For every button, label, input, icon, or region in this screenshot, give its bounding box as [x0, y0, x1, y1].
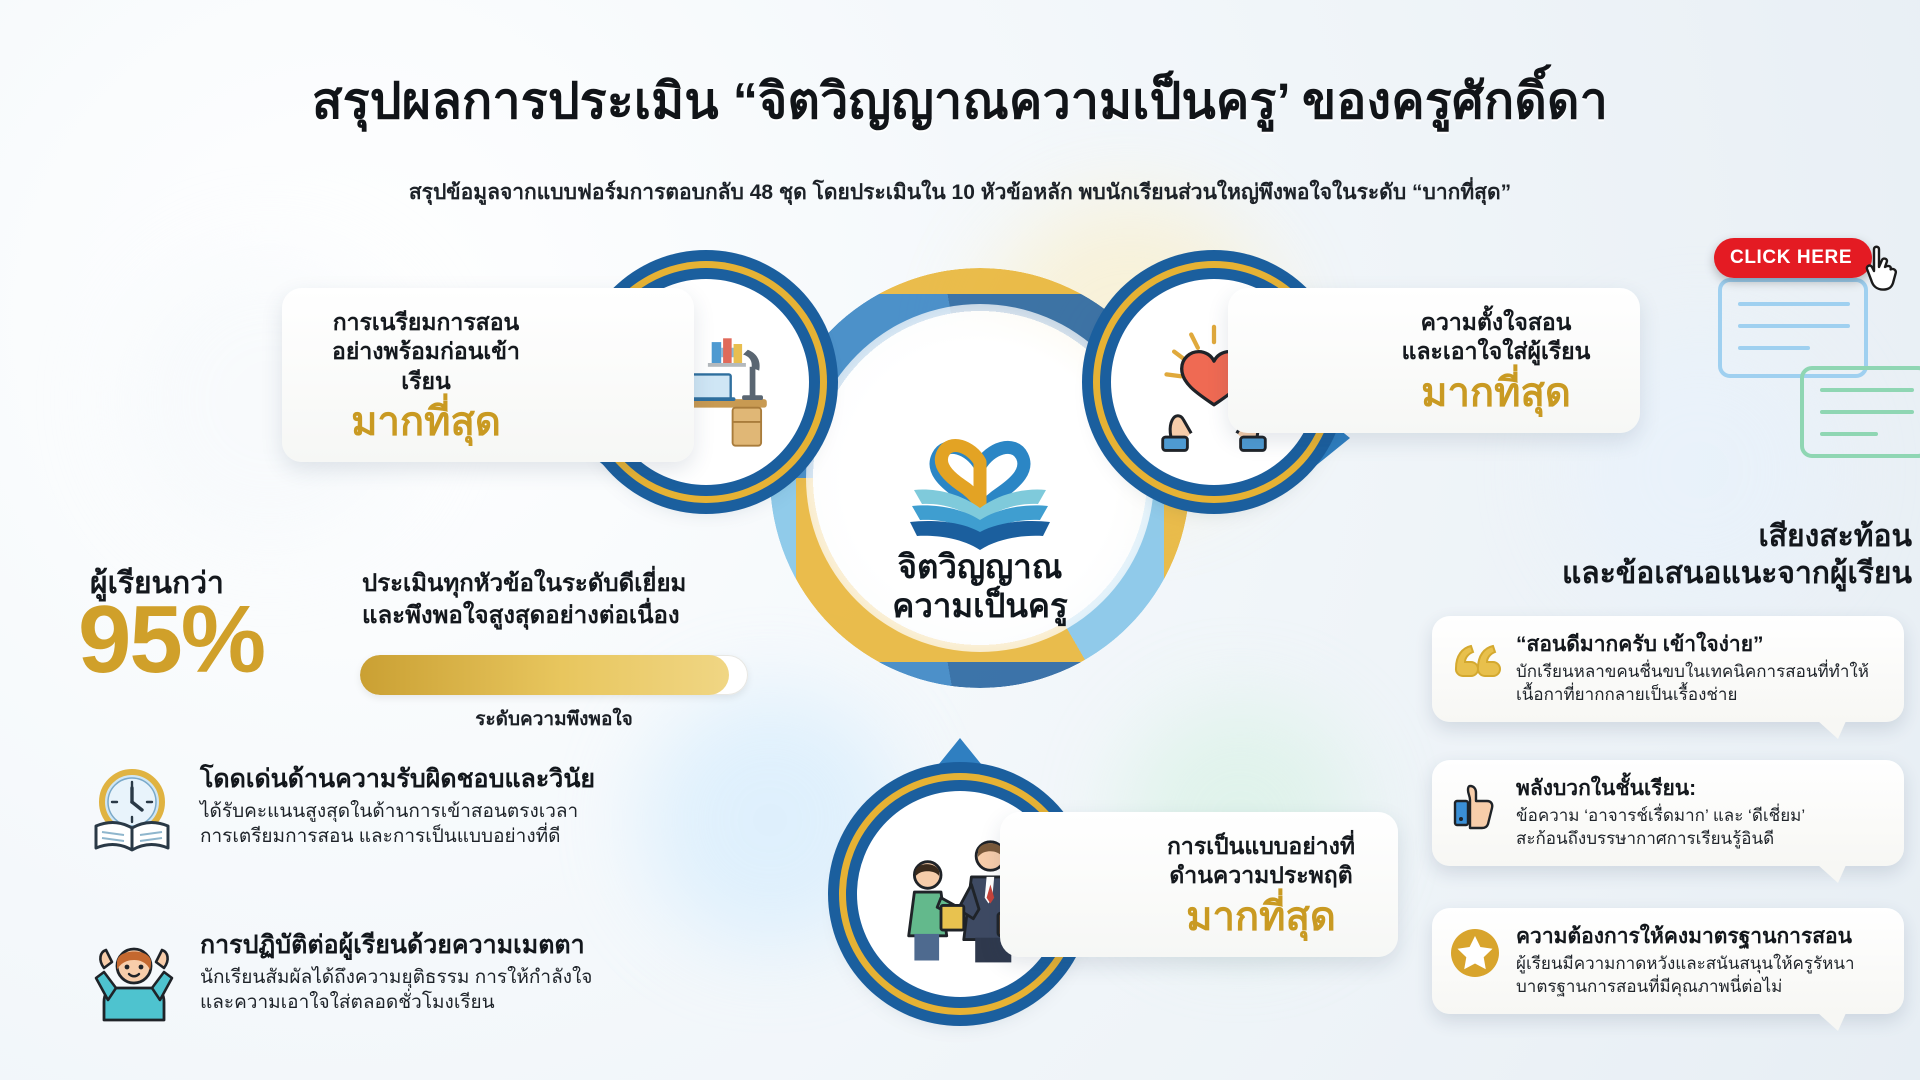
- clock-book-icon: [86, 762, 182, 858]
- feature-kindness-text-line-2: และความเอาใจใส่ตลอดชั่วโมงเรียน: [200, 990, 592, 1015]
- feature-responsibility-text-line-1: ได้รับคะแนนสูงสุดในด้านการเข้าสอนตรงเวลา: [200, 799, 595, 824]
- stat-note-line-2: และพึงพอใจสูงสุดอย่างต่อเนื่อง: [362, 600, 802, 632]
- feedback-card-quote-text-line-2: เนื้อกาที่ยากกลายเป็นเรื้องช่าย: [1516, 684, 1869, 707]
- card-dedication-title-line-2: และเอาใจใส่ผู้เรียน: [1378, 337, 1614, 366]
- star-icon: [1448, 926, 1502, 980]
- feedback-card-positive: พลังบวกในชั้นเรียน: ข้อความ ‘อาจารช์เรื่…: [1432, 760, 1904, 866]
- center-label-line-2: ความเป็นครู: [800, 587, 1160, 626]
- card-preparation: การเนรียมการสอน อย่างพร้อมก่อนเข้าเรียน …: [282, 288, 694, 462]
- heart-book-logo: [868, 404, 1092, 554]
- page-subtitle: สรุปข้อมูลจากแบบฟอร์มการตอบกลับ 48 ชุด โ…: [0, 176, 1920, 209]
- quote-icon: [1448, 634, 1502, 688]
- feedback-heading-line-2: และข้อเสนอแนะจากผู้เรียน: [1380, 555, 1912, 592]
- feedback-card-quote-text: บักเรียนหลาขคนชื่นขบในเทคนิคการสอนที่ทำใ…: [1516, 661, 1869, 706]
- feedback-card-positive-text: ข้อความ ‘อาจารช์เรื่ดมาก’ และ ‘ดีเชี่ยม’…: [1516, 805, 1805, 850]
- card-role-model: การเป็นแบบอย่างที่ ดำนความประพฤติ มากที่…: [1000, 812, 1398, 957]
- card-preparation-value: มากที่สุด: [308, 402, 544, 442]
- card-dedication-title: ความตั้งใจสอน และเอาใจใส่ผู้เรียน: [1378, 308, 1614, 367]
- center-label-line-1: จิตวิญญาณ: [800, 548, 1160, 587]
- card-role-model-title-line-1: การเป็นแบบอย่างที่: [1150, 832, 1372, 861]
- feedback-card-quote-heading: “สอนดีมากครับ เข้าใจง่าย”: [1516, 632, 1869, 657]
- decorative-chat-bubble-green: [1800, 366, 1920, 458]
- feedback-card-quote: “สอนดีมากครับ เข้าใจง่าย” บักเรียนหลาขคน…: [1432, 616, 1904, 722]
- feature-responsibility-text: ได้รับคะแนนสูงสุดในด้านการเข้าสอนตรงเวลา…: [200, 799, 595, 850]
- feedback-card-positive-text-line-2: สะก้อนถึงบรรษากาศการเรียนรู้อินดี: [1516, 828, 1805, 851]
- feedback-card-positive-heading: พลังบวกในชั้นเรียน:: [1516, 776, 1805, 801]
- card-preparation-title-line-2: อย่างพร้อมก่อนเข้าเรียน: [308, 337, 544, 396]
- satisfaction-progress-fill: [360, 655, 729, 695]
- feedback-card-standard-text-line-2: บาตรฐานการสอนที่มีคุณภาพนี่ต่อไม่: [1516, 976, 1855, 999]
- center-label: จิตวิญญาณ ความเป็นครู: [800, 548, 1160, 626]
- stat-note-line-1: ประเมินทุกหัวข้อในระดับดีเยี่ยม: [362, 568, 802, 600]
- page-title: สรุปผลการประเมิน “จิตวิญญาณความเป็นครู’ …: [0, 62, 1920, 141]
- infographic-canvas: สรุปผลการประเมิน “จิตวิญญาณความเป็นครู’ …: [0, 0, 1920, 1080]
- stat-note: ประเมินทุกหัวข้อในระดับดีเยี่ยม และพึงพอ…: [362, 568, 802, 631]
- pointer-bottom: [926, 738, 994, 780]
- feedback-card-standard: ความต้องการให้คงมาตรฐานการสอน ผู้เรียนมี…: [1432, 908, 1904, 1014]
- feedback-card-standard-text-line-1: ผู้เรียนมีความกาดหวังและสนันสนุนให้ครูรั…: [1516, 953, 1855, 976]
- thumbs-up-icon: [1448, 778, 1502, 832]
- card-dedication-title-line-1: ความตั้งใจสอน: [1378, 308, 1614, 337]
- teacher-open-arms-icon: [86, 928, 182, 1024]
- satisfaction-bar-label: ระดับความพึงพอใจ: [360, 704, 748, 734]
- click-here-button[interactable]: CLICK HERE: [1714, 238, 1872, 278]
- card-role-model-title: การเป็นแบบอย่างที่ ดำนความประพฤติ: [1150, 832, 1372, 891]
- click-here-label: CLICK HERE: [1730, 247, 1852, 269]
- feature-responsibility-heading: โดดเด่นด้านความรับผิดชอบและวินัย: [200, 764, 595, 794]
- card-preparation-title-line-1: การเนรียมการสอน: [308, 308, 544, 337]
- feedback-card-standard-heading: ความต้องการให้คงมาตรฐานการสอน: [1516, 924, 1855, 949]
- feature-responsibility-text-line-2: การเตรียมการสอน และการเป็นแบบอย่างที่ดี: [200, 824, 595, 849]
- feature-kindness-text: นักเรียนสัมผัลได้ถึงความยุติธรรม การให้ก…: [200, 965, 592, 1016]
- feedback-card-positive-text-line-1: ข้อความ ‘อาจารช์เรื่ดมาก’ และ ‘ดีเชี่ยม’: [1516, 805, 1805, 828]
- feedback-card-standard-text: ผู้เรียนมีความกาดหวังและสนันสนุนให้ครูรั…: [1516, 953, 1855, 998]
- hand-cursor-icon: [1862, 243, 1906, 291]
- feedback-heading: เสียงสะท้อน และข้อเสนอแนะจากผู้เรียน: [1380, 518, 1912, 592]
- stat-percent-value: 95%: [78, 592, 264, 688]
- feature-responsibility: โดดเด่นด้านความรับผิดชอบและวินัย ได้รับค…: [86, 762, 595, 858]
- card-preparation-title: การเนรียมการสอน อย่างพร้อมก่อนเข้าเรียน: [308, 308, 544, 396]
- feature-kindness-text-line-1: นักเรียนสัมผัลได้ถึงความยุติธรรม การให้ก…: [200, 965, 592, 990]
- satisfaction-progress-bar: [360, 655, 748, 695]
- feedback-card-quote-text-line-1: บักเรียนหลาขคนชื่นขบในเทคนิคการสอนที่ทำใ…: [1516, 661, 1869, 684]
- card-dedication: ความตั้งใจสอน และเอาใจใส่ผู้เรียน มากที่…: [1228, 288, 1640, 433]
- card-role-model-title-line-2: ดำนความประพฤติ: [1150, 861, 1372, 890]
- card-dedication-value: มากที่สุด: [1378, 373, 1614, 413]
- card-role-model-value: มากที่สุด: [1150, 897, 1372, 937]
- feedback-heading-line-1: เสียงสะท้อน: [1380, 518, 1912, 555]
- feature-kindness-heading: การปฏิบัติต่อผู้เรียนด้วยความเมตตา: [200, 930, 592, 960]
- decorative-chat-bubble-blue: [1718, 278, 1868, 378]
- feature-kindness: การปฏิบัติต่อผู้เรียนด้วยความเมตตา นักเร…: [86, 928, 592, 1024]
